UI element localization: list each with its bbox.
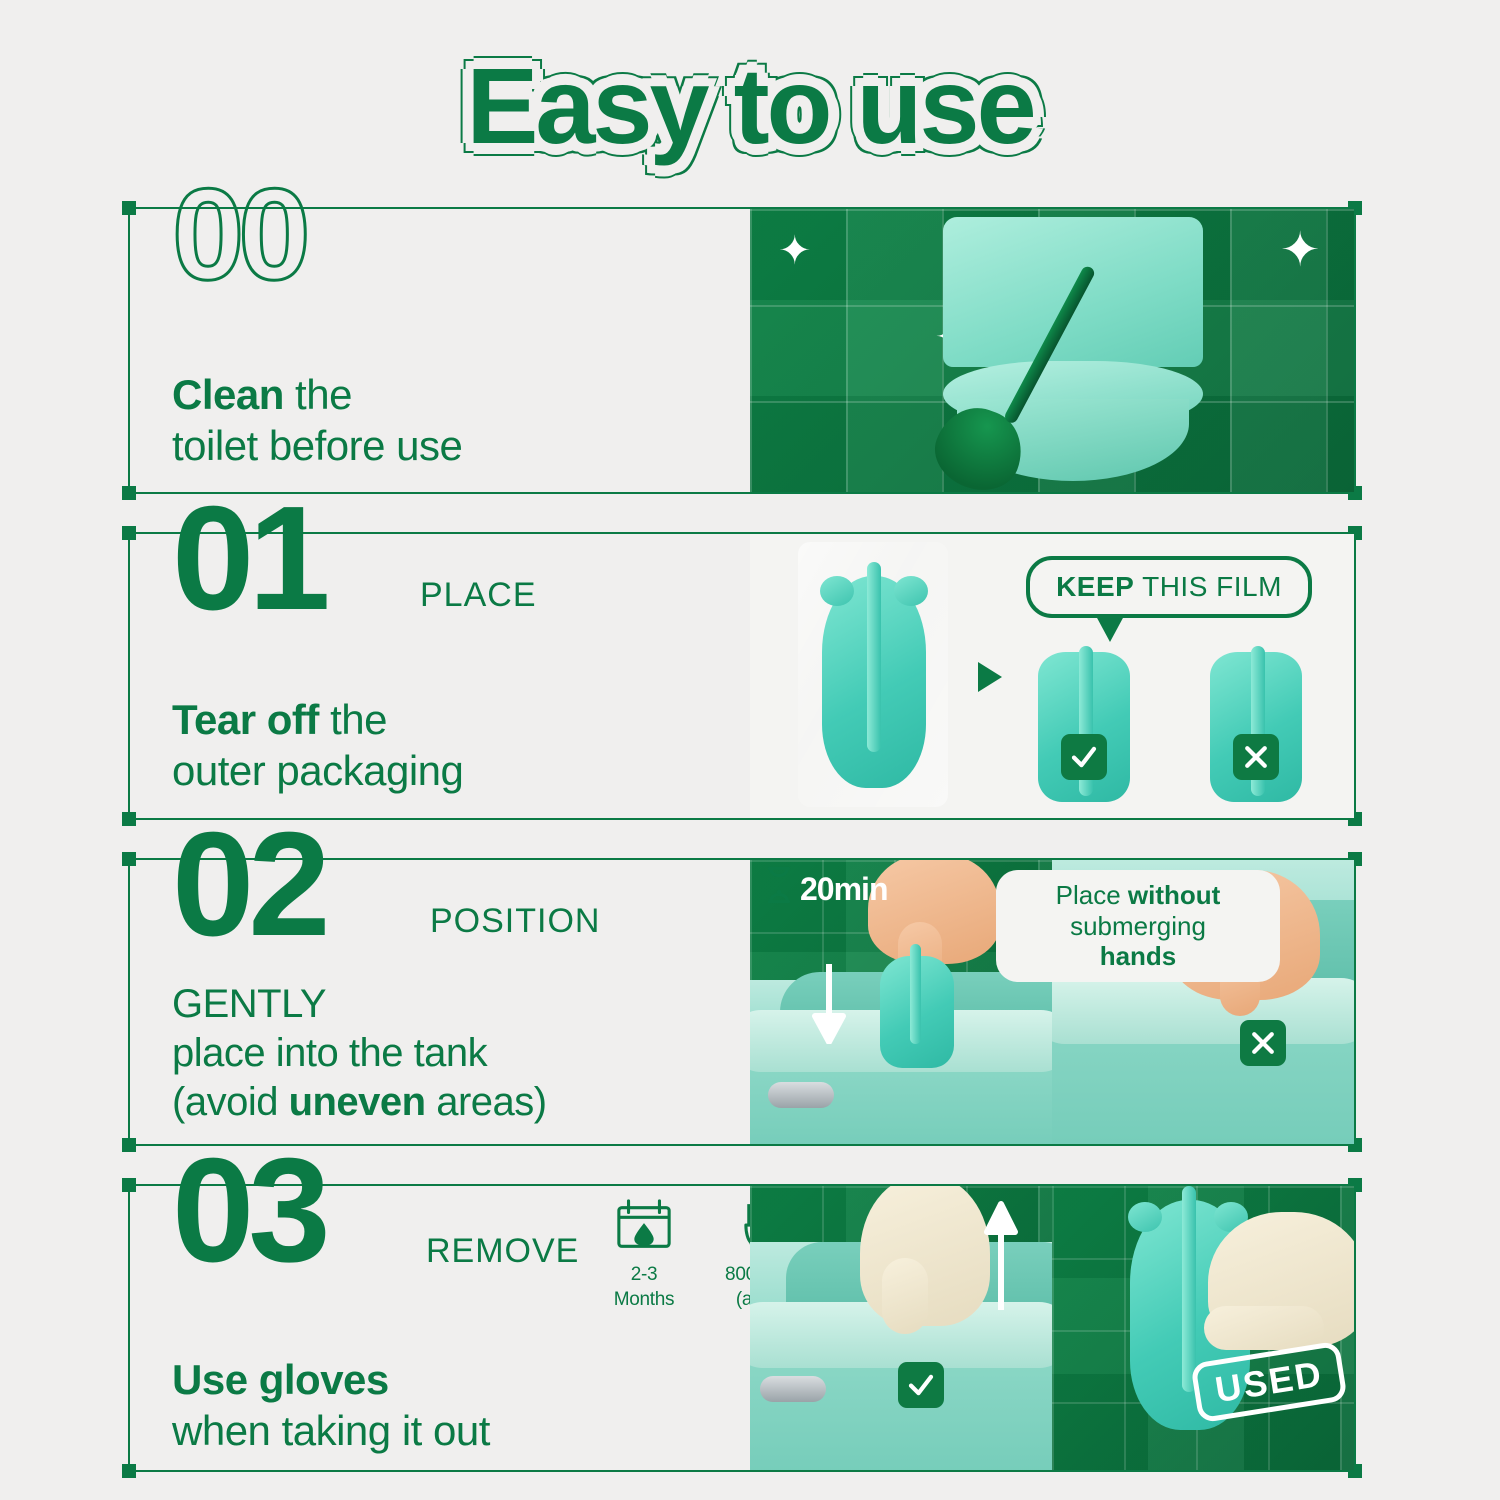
cross-badge-bad [1240, 1020, 1286, 1066]
check-badge-good [1061, 734, 1107, 780]
step-01-image-panel: KEEP THIS FILM [750, 534, 1354, 818]
step-00-text-column: 00 Clean the toilet before use [130, 209, 750, 492]
frog-stick [910, 944, 921, 1044]
step-01-line-1: Tear off the [172, 694, 463, 745]
sparkle-icon: ✦ [1280, 227, 1320, 275]
step-row-02: 02 POSITION GENTLY place into the tank (… [128, 858, 1356, 1146]
icon-item-duration: 2-3 Months [596, 1198, 692, 1311]
glove-finger [882, 1258, 928, 1334]
step-00-line-2: toilet before use [172, 420, 462, 471]
step-00-line-1: Clean the [172, 369, 462, 420]
step-02-line-3: (avoid uneven areas) [172, 1078, 547, 1127]
up-arrow-icon [984, 1200, 1018, 1315]
card-line-1: Place without [1056, 880, 1221, 911]
step-02-image-panel: 20min Place without submerging hands [750, 860, 1354, 1144]
hourglass-icon [764, 866, 794, 912]
step-03-line-1: Use gloves [172, 1354, 490, 1405]
step-row-03: 03 REMOVE 2-3 Months 800 flushes (at 25˚… [128, 1184, 1356, 1472]
bubble-tail [1096, 616, 1124, 642]
step-01-number: 01 [172, 498, 325, 619]
step-02-line-2: place into the tank [172, 1029, 547, 1078]
cross-badge-bad [1233, 734, 1279, 780]
step-03-line-2: when taking it out [172, 1405, 490, 1456]
step-row-00: 00 Clean the toilet before use ✦ ✦ ✦ [128, 207, 1356, 494]
flush-lever [760, 1376, 826, 1402]
step-03-scene-right: USED [1052, 1186, 1354, 1470]
keep-film-text: KEEP THIS FILM [1056, 571, 1282, 603]
place-without-submerging-card: Place without submerging hands [996, 870, 1280, 982]
duration-caption-2: Months [614, 1290, 675, 1311]
timer-chip: 20min [764, 866, 887, 912]
step-00-number: 00 [172, 181, 305, 288]
step-00-image-panel: ✦ ✦ ✦ [750, 209, 1354, 492]
timer-label: 20min [800, 871, 887, 908]
glove-finger [1204, 1306, 1324, 1350]
page-title: Easy to use [466, 52, 1033, 160]
page-header: Easy to use [0, 52, 1500, 160]
step-02-text-column: 02 POSITION GENTLY place into the tank (… [130, 860, 750, 1144]
step-02-kicker: POSITION [430, 902, 600, 941]
flush-lever [768, 1082, 834, 1108]
step-03-text-column: 03 REMOVE 2-3 Months 800 flushes (at 25˚… [130, 1186, 750, 1470]
step-02-number: 02 [172, 824, 325, 945]
keep-film-bubble: KEEP THIS FILM [1026, 556, 1312, 618]
card-line-3: hands [1100, 941, 1177, 972]
play-arrow-icon [978, 662, 1002, 697]
step-01-kicker: PLACE [420, 576, 537, 615]
step-02-line-1: GENTLY [172, 980, 547, 1029]
step-row-01: 01 PLACE Tear off the outer packaging KE… [128, 532, 1356, 820]
calendar-drop-icon [613, 1198, 675, 1261]
frog-stick [867, 562, 881, 752]
down-arrow-icon [812, 964, 846, 1049]
used-stamp-label: USED [1212, 1353, 1325, 1410]
step-03-scene-left [750, 1186, 1052, 1470]
step-03-kicker: REMOVE [426, 1232, 579, 1271]
frog-ear-right [894, 576, 928, 606]
step-01-line-2: outer packaging [172, 745, 463, 796]
frog-ear-left [1128, 1202, 1162, 1232]
duration-caption-1: 2-3 [631, 1265, 658, 1286]
sparkle-icon: ✦ [778, 231, 812, 271]
card-line-2: submerging [1070, 911, 1206, 942]
check-badge-good [898, 1362, 944, 1408]
frog-ear-left [820, 576, 854, 606]
frog-stick [1182, 1186, 1196, 1392]
step-01-text-column: 01 PLACE Tear off the outer packaging [130, 534, 750, 818]
step-03-image-panel: USED [750, 1186, 1354, 1470]
step-03-number: 03 [172, 1150, 325, 1271]
